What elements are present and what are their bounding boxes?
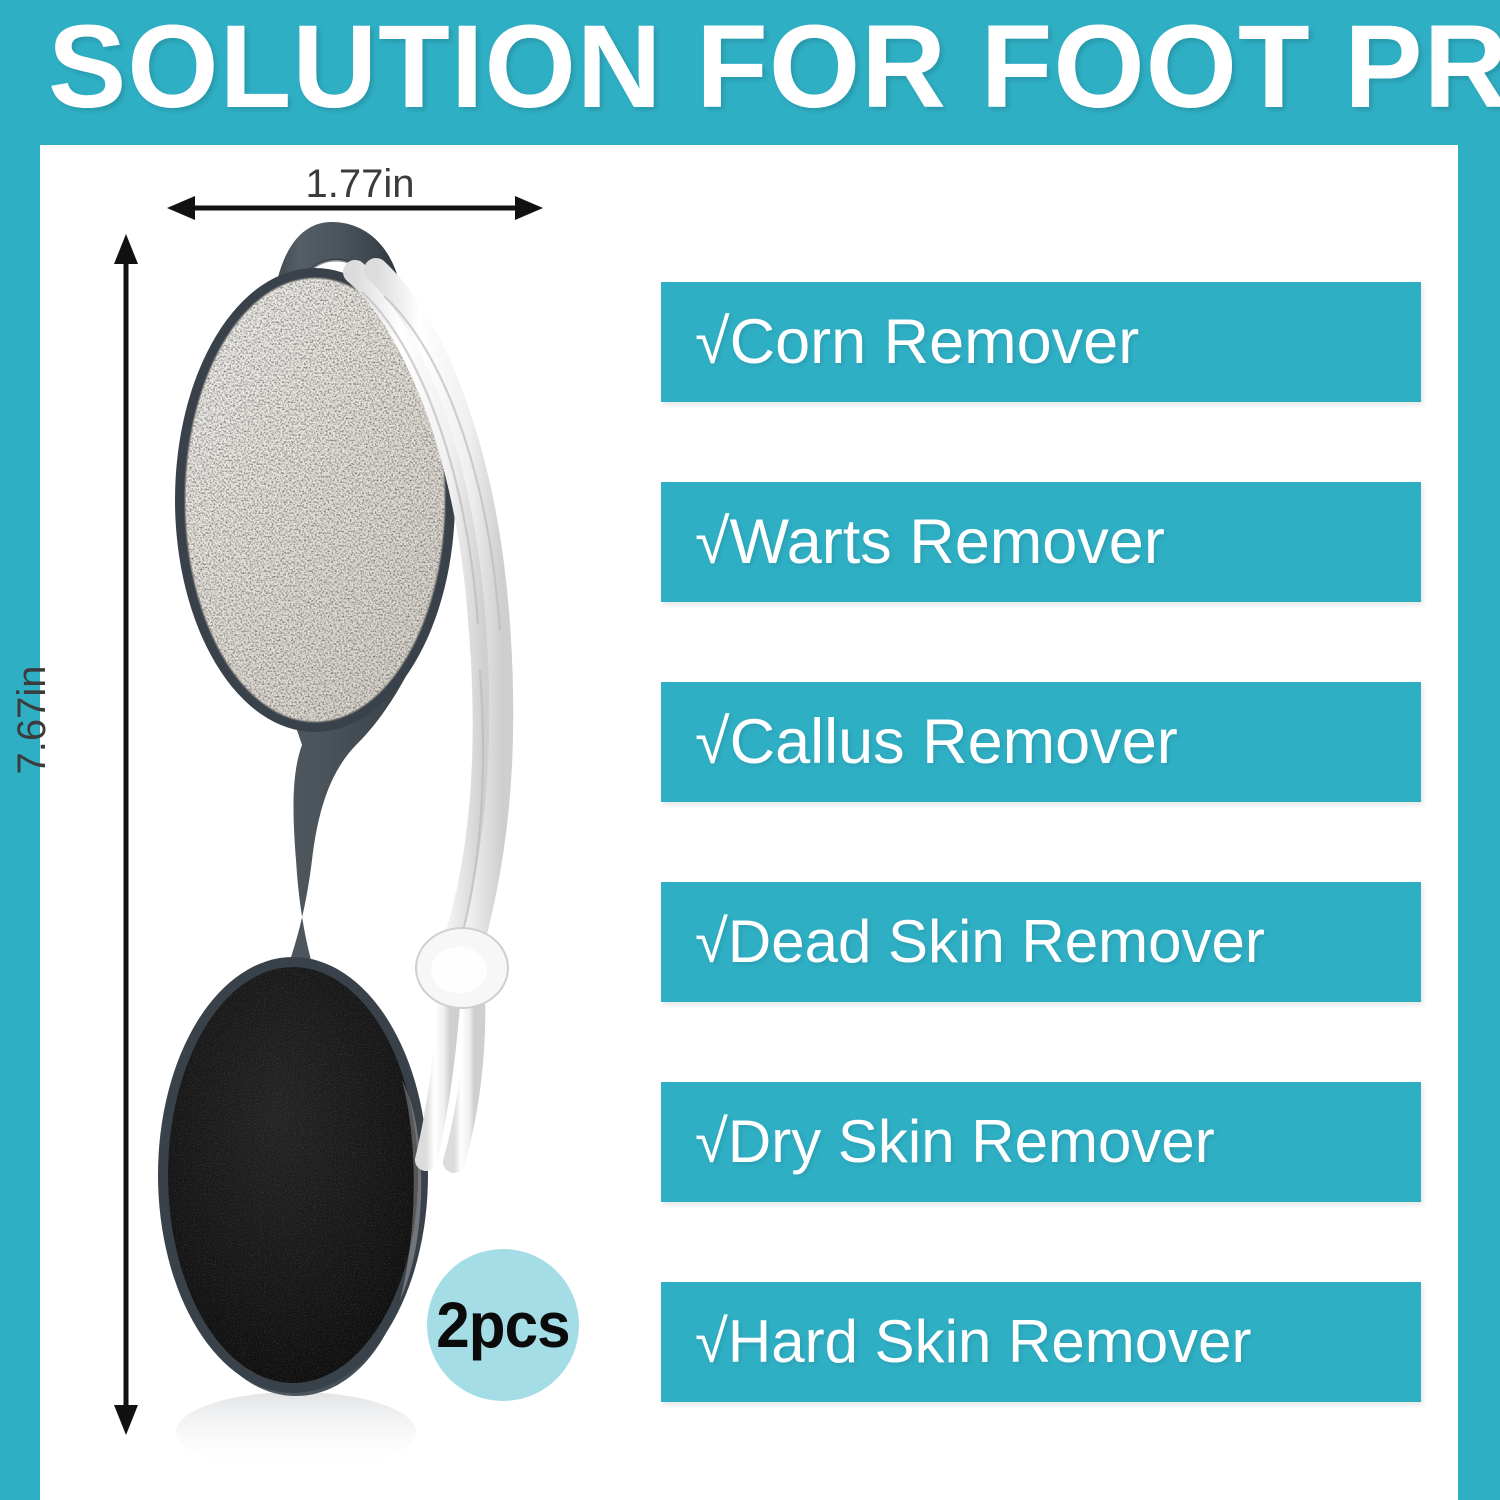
emery-pad (168, 967, 418, 1383)
height-dimension-arrow (104, 232, 148, 1437)
height-dimension-label: 7.67in (10, 620, 55, 820)
feature-bar-dry-skin-remover: √Dry Skin Remover (661, 1082, 1421, 1202)
feature-label: √Warts Remover (661, 506, 1165, 578)
feature-label: √Dead Skin Remover (661, 906, 1265, 978)
feature-bar-callus-remover: √Callus Remover (661, 682, 1421, 802)
header-band: SOLUTION FOR FOOT PROBLEM (0, 0, 1500, 145)
feature-label: √Hard Skin Remover (661, 1306, 1251, 1378)
quantity-badge: 2pcs (427, 1249, 579, 1401)
feature-bar-warts-remover: √Warts Remover (661, 482, 1421, 602)
feature-label: √Callus Remover (661, 706, 1178, 778)
reflection-shadow (176, 1392, 416, 1472)
quantity-badge-label: 2pcs (436, 1293, 569, 1357)
rope-tail-left (426, 990, 450, 1160)
feature-bar-corn-remover: √Corn Remover (661, 282, 1421, 402)
feature-bar-dead-skin-remover: √Dead Skin Remover (661, 882, 1421, 1002)
feature-label: √Dry Skin Remover (661, 1106, 1215, 1178)
feature-list: √Corn Remover √Warts Remover √Callus Rem… (661, 282, 1421, 1402)
rope-knot-core (431, 947, 487, 993)
page-title: SOLUTION FOR FOOT PROBLEM (48, 4, 1461, 130)
feature-bar-hard-skin-remover: √Hard Skin Remover (661, 1282, 1421, 1402)
feature-label: √Corn Remover (661, 306, 1139, 378)
product-infographic: SOLUTION FOR FOOT PROBLEM 1.77in 7.67in (0, 0, 1500, 1500)
